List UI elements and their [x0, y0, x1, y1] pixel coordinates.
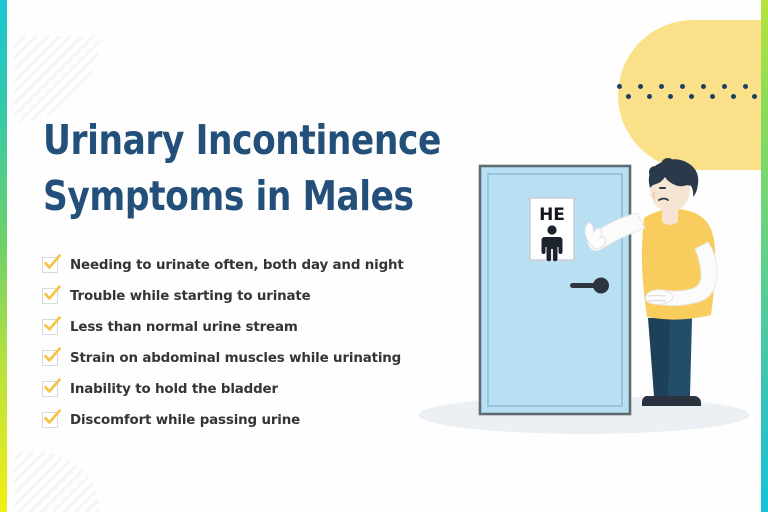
- list-item: Trouble while starting to urinate: [42, 281, 462, 311]
- dot: [668, 94, 673, 99]
- checkbox-checked-icon: [42, 381, 58, 397]
- list-item: Strain on abdominal muscles while urinat…: [42, 343, 462, 373]
- dot: [659, 84, 664, 89]
- dot: [680, 84, 685, 89]
- list-item-label: Needing to urinate often, both day and n…: [70, 258, 404, 273]
- dot: [752, 94, 757, 99]
- list-item: Discomfort while passing urine: [42, 405, 462, 435]
- page-title-line-2: Symptoms in Males: [43, 169, 404, 225]
- restroom-door-sign: HE: [530, 198, 574, 261]
- symptom-list: Needing to urinate often, both day and n…: [42, 250, 462, 436]
- dot: [647, 94, 652, 99]
- page-title-line-1: Urinary Incontinence: [43, 113, 404, 169]
- checkbox-checked-icon: [42, 319, 58, 335]
- diagonal-stripes-top-left-decoration: [14, 36, 100, 122]
- character-leg-front: [668, 318, 692, 396]
- character-hand-on-abdomen: [646, 290, 673, 305]
- diagonal-stripes-bottom-left-decoration: [14, 452, 100, 512]
- illustration-restroom-door-scene: HE: [412, 150, 757, 440]
- infographic-canvas: Urinary Incontinence Symptoms in Males N…: [0, 0, 768, 512]
- dot: [722, 84, 727, 89]
- checkbox-checked-icon: [42, 288, 58, 304]
- list-item-label: Trouble while starting to urinate: [70, 289, 311, 304]
- dot: [731, 94, 736, 99]
- dot: [689, 94, 694, 99]
- list-item: Inability to hold the bladder: [42, 374, 462, 404]
- list-item: Needing to urinate often, both day and n…: [42, 250, 462, 280]
- list-item-label: Inability to hold the bladder: [70, 382, 278, 397]
- list-item: Less than normal urine stream: [42, 312, 462, 342]
- door-sign-text: HE: [539, 205, 565, 225]
- dot: [617, 84, 622, 89]
- list-item-label: Discomfort while passing urine: [70, 413, 300, 428]
- list-item-label: Less than normal urine stream: [70, 320, 298, 335]
- dot: [626, 94, 631, 99]
- dot: [710, 94, 715, 99]
- page-title: Urinary Incontinence Symptoms in Males: [43, 113, 404, 225]
- dot-row-bottom-decoration: [626, 94, 768, 99]
- left-gradient-bar-decoration: [0, 0, 7, 512]
- checkbox-checked-icon: [42, 350, 58, 366]
- right-gradient-bar-decoration: [761, 0, 768, 512]
- checkbox-checked-icon: [42, 412, 58, 428]
- dot: [638, 84, 643, 89]
- character-shoe-right: [666, 396, 701, 406]
- dot: [701, 84, 706, 89]
- list-item-label: Strain on abdominal muscles while urinat…: [70, 351, 401, 366]
- dot-row-top-decoration: [617, 84, 768, 89]
- checkbox-checked-icon: [42, 257, 58, 273]
- dot: [743, 84, 748, 89]
